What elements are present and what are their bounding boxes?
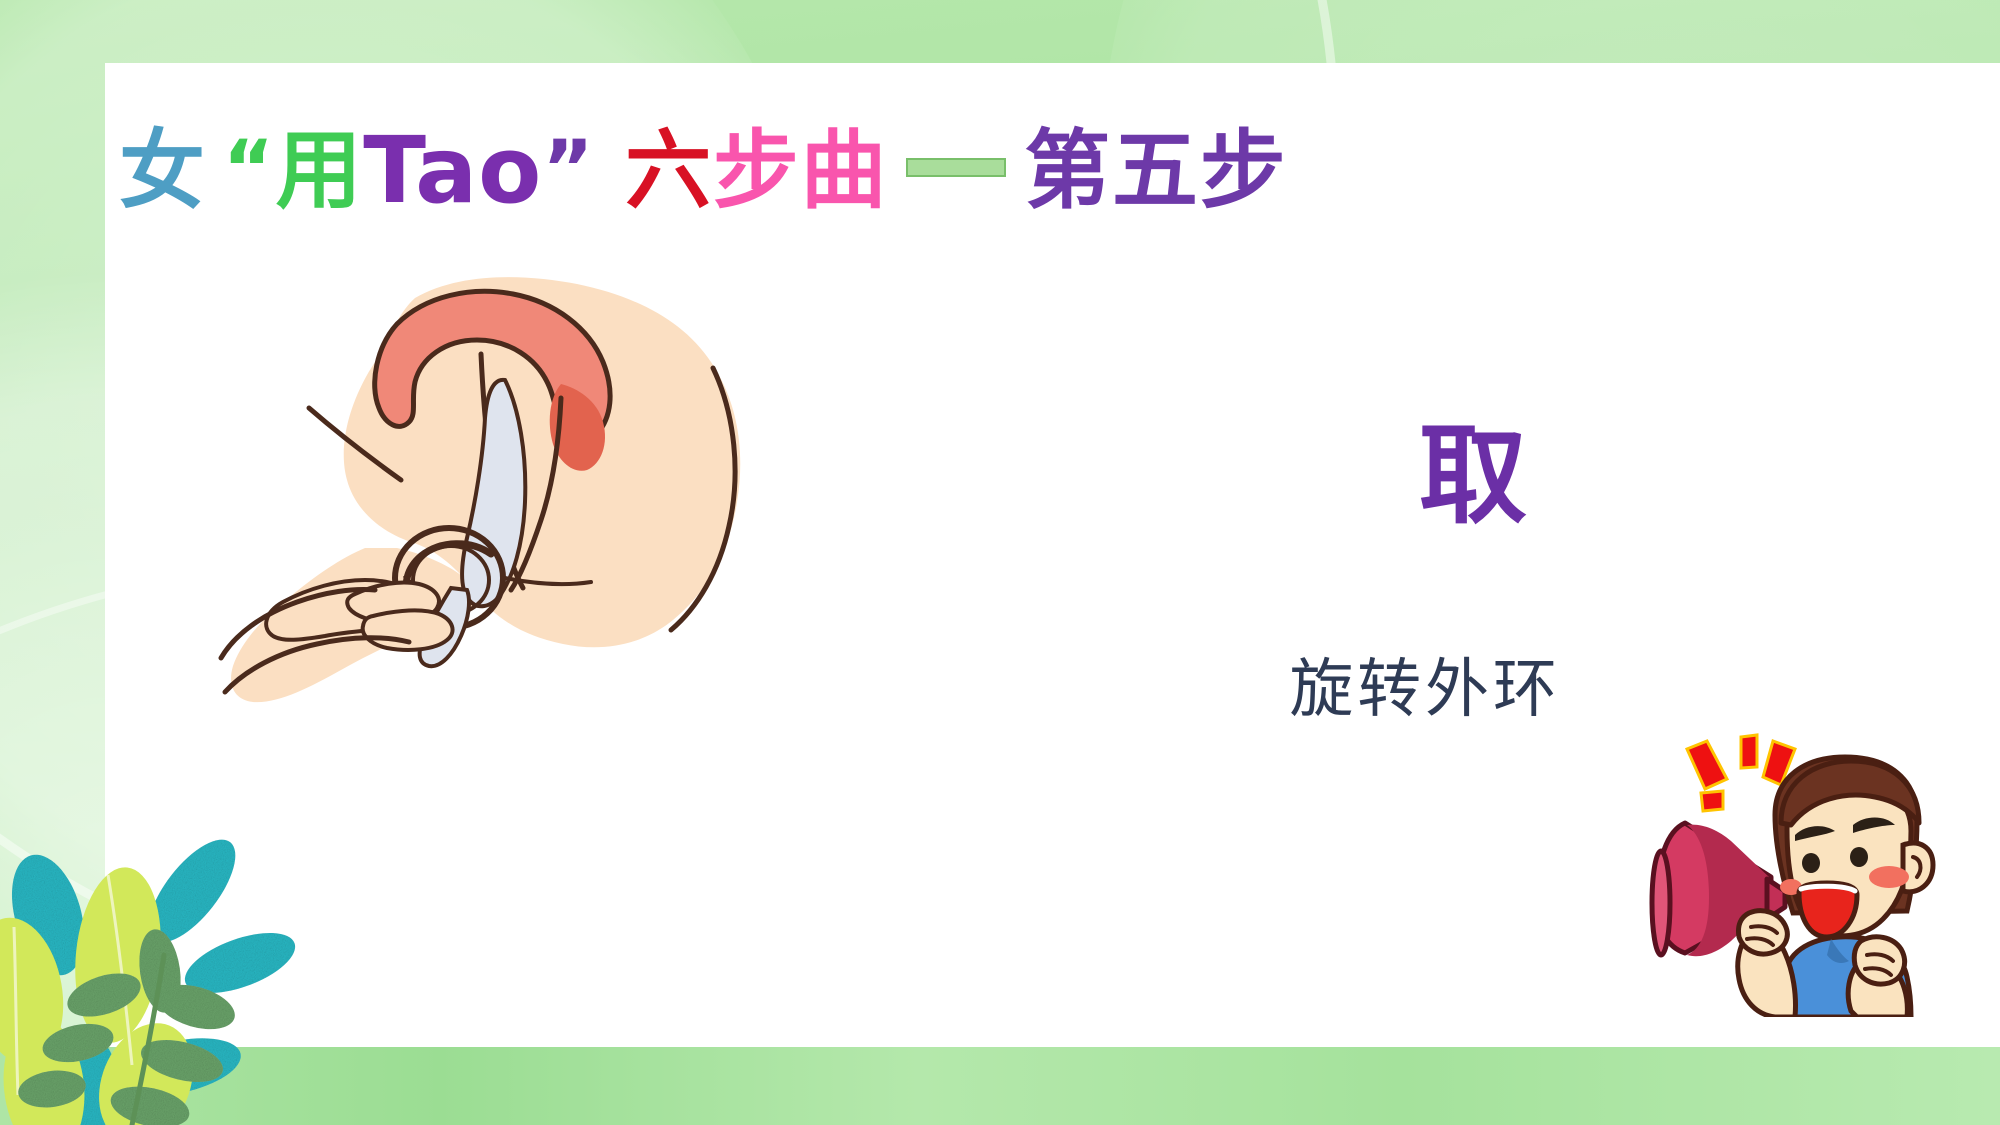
blush-right [1869, 866, 1909, 888]
hand-left [1738, 911, 1787, 954]
burst-middle [1741, 735, 1757, 768]
title-open-quote: “ [223, 131, 276, 209]
eye-right [1850, 847, 1868, 867]
title-close-quote: ” [542, 131, 595, 209]
title-char-liu: 六 [625, 128, 713, 214]
background-bottom-band [0, 1047, 2000, 1125]
anatomical-removal-diagram [205, 258, 765, 708]
ear [1903, 843, 1933, 892]
title-word-tao: Tao [363, 125, 542, 217]
title-char-qu: 曲 [801, 128, 889, 214]
content-card: 女“用Tao”六步曲第五步 [105, 63, 2000, 1047]
burst-left [1687, 741, 1727, 789]
man-with-megaphone [1645, 727, 1945, 1017]
title-step-label: 第五步 [1024, 128, 1287, 214]
page-title: 女“用Tao”六步曲第五步 [119, 125, 1287, 217]
eye-left [1802, 853, 1820, 873]
title-dash-icon [906, 158, 1006, 177]
step-headword: 取 [1225, 423, 1725, 531]
title-char-bu: 步 [713, 128, 801, 214]
step-instruction: 旋转外环 [1175, 658, 1675, 722]
title-char-yong: 用 [276, 128, 364, 214]
burst-small [1701, 791, 1723, 811]
slide-canvas: 女“用Tao”六步曲第五步 [0, 0, 2000, 1125]
anatomy-svg [205, 258, 765, 708]
hand-right-fist [1854, 937, 1904, 984]
megaphone-mouth-ring [1652, 851, 1670, 955]
mascot-svg [1645, 727, 1945, 1017]
title-char-nv: 女 [119, 128, 207, 214]
